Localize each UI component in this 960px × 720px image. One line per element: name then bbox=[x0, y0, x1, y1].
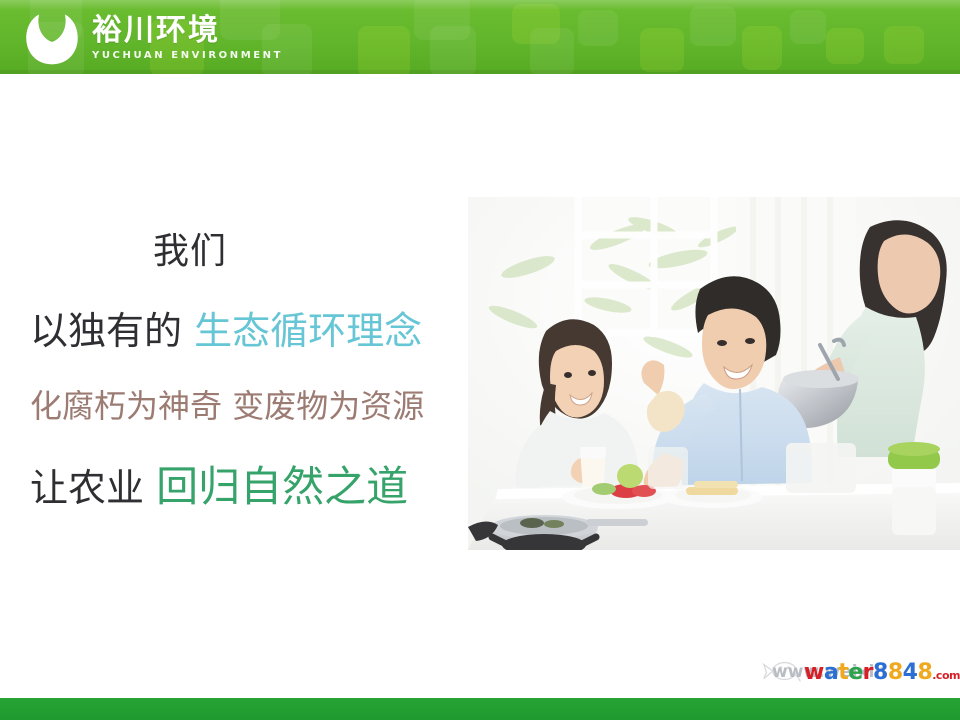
wm-char-r: r bbox=[863, 660, 873, 685]
copy-line-4-prefix: 让农业 bbox=[30, 466, 156, 510]
wm-char-w: w bbox=[804, 660, 824, 685]
wm-char-t: t bbox=[838, 660, 848, 685]
copy-line-3-part-a: 化腐朽为神奇 bbox=[30, 387, 232, 425]
wm-domain-suffix: .com bbox=[932, 669, 960, 682]
logo-text: 裕川环境 YUCHUAN ENVIRONMENT bbox=[92, 16, 283, 61]
headline-copy: 我们 以独有的 生态循环理念 化腐朽为神奇 变废物为资源 让农业 回归自然之道 bbox=[0, 222, 440, 514]
copy-line-1: 我们 bbox=[0, 222, 440, 274]
slide-root: 裕川环境 YUCHUAN ENVIRONMENT 我们 以独有的 生态循环理念 … bbox=[0, 0, 960, 720]
header-baseline bbox=[0, 70, 960, 74]
photo-illustration bbox=[468, 197, 960, 550]
copy-line-2-highlight: 生态循环理念 bbox=[194, 309, 422, 353]
wm-char-4: 4 bbox=[903, 660, 918, 685]
wm-char-8c: 8 bbox=[917, 660, 932, 685]
logo-company-en: YUCHUAN ENVIRONMENT bbox=[92, 51, 283, 61]
wm-char-e: e bbox=[848, 660, 862, 685]
header-band: 裕川环境 YUCHUAN ENVIRONMENT bbox=[0, 0, 960, 74]
wm-char-a: a bbox=[824, 660, 838, 685]
copy-line-4: 让农业 回归自然之道 bbox=[0, 453, 440, 514]
family-dining-kitchen-photo bbox=[468, 197, 960, 550]
footer-green-bar bbox=[0, 698, 960, 720]
copy-line-3-part-b: 变废物为资源 bbox=[232, 387, 424, 425]
watermark-brand: water8848.com bbox=[804, 660, 960, 685]
copy-line-2-prefix: 以独有的 bbox=[30, 309, 194, 353]
copy-line-3: 化腐朽为神奇 变废物为资源 bbox=[0, 381, 440, 427]
logo-company-cn: 裕川环境 bbox=[92, 16, 283, 46]
copy-line-2: 以独有的 生态循环理念 bbox=[0, 300, 440, 355]
copy-line-4-highlight: 回归自然之道 bbox=[156, 462, 408, 511]
wm-char-8a: 8 bbox=[873, 660, 888, 685]
wm-char-8b: 8 bbox=[888, 660, 903, 685]
watermark: www.weixin water8848.com 中国水业网 bbox=[756, 654, 952, 698]
logo[interactable]: 裕川环境 YUCHUAN ENVIRONMENT bbox=[24, 9, 283, 67]
leaf-sprout-circle-icon bbox=[24, 10, 80, 66]
